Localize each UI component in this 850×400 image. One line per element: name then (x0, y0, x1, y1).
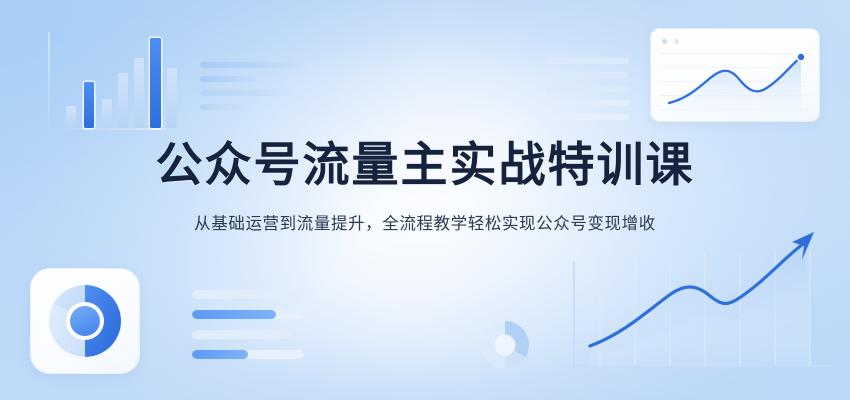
progress-track (192, 290, 304, 299)
bar-chart-bar (102, 99, 112, 128)
bar-chart-bar (84, 82, 94, 128)
text-line (200, 62, 308, 68)
bar-chart-bar (167, 68, 177, 128)
text-line (200, 76, 256, 82)
text-line (545, 86, 629, 92)
text-line (545, 114, 629, 120)
course-banner: 公众号流量主实战特训课 从基础运营到流量提升，全流程教学轻松实现公众号变现增收 (0, 0, 850, 400)
donut-chart-tile (30, 268, 140, 374)
donut-chart-icon (47, 283, 123, 359)
progress-track (192, 350, 304, 359)
text-lines-top-right (545, 58, 629, 128)
progress-track (192, 310, 304, 319)
text-line (545, 100, 629, 106)
progress-bars-decoration (192, 290, 304, 370)
text-line (545, 58, 629, 64)
card-line-chart (651, 29, 819, 121)
progress-track (192, 330, 290, 339)
mini-donut-chart (478, 318, 532, 377)
text-line (545, 72, 629, 78)
bar-chart-bar (66, 106, 76, 128)
bar-chart-bar (134, 58, 144, 128)
analytics-card (650, 28, 820, 122)
growth-curve-chart (560, 230, 840, 395)
text-line (200, 104, 255, 110)
bar-chart-bar (118, 73, 128, 128)
text-lines-top-left (200, 62, 310, 118)
page-subtitle: 从基础运营到流量提升，全流程教学轻松实现公众号变现增收 (0, 210, 850, 234)
bar-chart-y-axis (48, 32, 50, 128)
page-title: 公众号流量主实战特训课 (0, 138, 850, 193)
bar-chart-x-axis (48, 128, 166, 130)
text-line (200, 90, 295, 96)
banner-text-block: 公众号流量主实战特训课 从基础运营到流量提升，全流程教学轻松实现公众号变现增收 (0, 138, 850, 234)
progress-fill (192, 310, 276, 319)
bar-chart-bar (150, 38, 161, 128)
line-chart-endpoint-marker (797, 53, 805, 61)
progress-fill (192, 350, 248, 359)
bar-chart-decoration (48, 32, 166, 130)
